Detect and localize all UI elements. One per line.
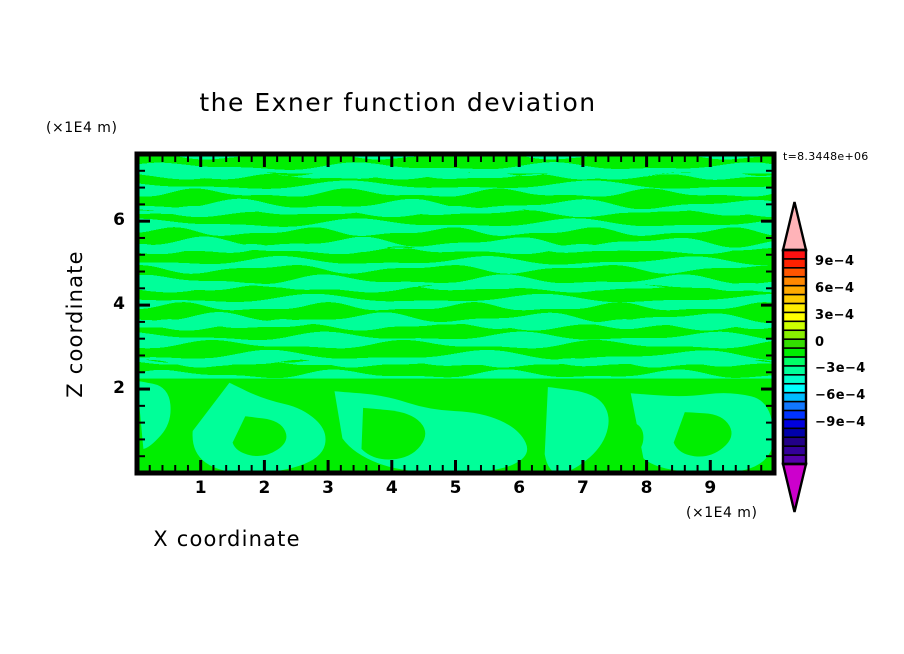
chart-figure: the Exner function deviation (×1E4 m) (×…: [0, 0, 904, 654]
contour-plot-canvas: [0, 0, 904, 654]
contour-field: [137, 153, 774, 473]
x-tick-label: 6: [499, 478, 539, 498]
x-tick-label: 1: [181, 478, 221, 498]
colorbar: [783, 202, 806, 512]
colorbar-tick-label: 0: [815, 335, 824, 350]
colorbar-tick-label: 9e−4: [815, 254, 854, 269]
y-tick-label: 6: [89, 210, 125, 230]
x-tick-label: 8: [627, 478, 667, 498]
x-tick-label: 4: [372, 478, 412, 498]
y-tick-label: 4: [89, 294, 125, 314]
x-tick-label: 7: [563, 478, 603, 498]
x-tick-label: 9: [690, 478, 730, 498]
colorbar-tick-label: −9e−4: [815, 415, 866, 430]
colorbar-tick-label: −3e−4: [815, 361, 866, 376]
colorbar-tick-label: 3e−4: [815, 308, 854, 323]
colorbar-tick-label: 6e−4: [815, 281, 854, 296]
x-tick-label: 2: [244, 478, 284, 498]
x-tick-label: 5: [436, 478, 476, 498]
x-tick-label: 3: [308, 478, 348, 498]
y-tick-label: 2: [89, 378, 125, 398]
colorbar-tick-label: −6e−4: [815, 388, 866, 403]
